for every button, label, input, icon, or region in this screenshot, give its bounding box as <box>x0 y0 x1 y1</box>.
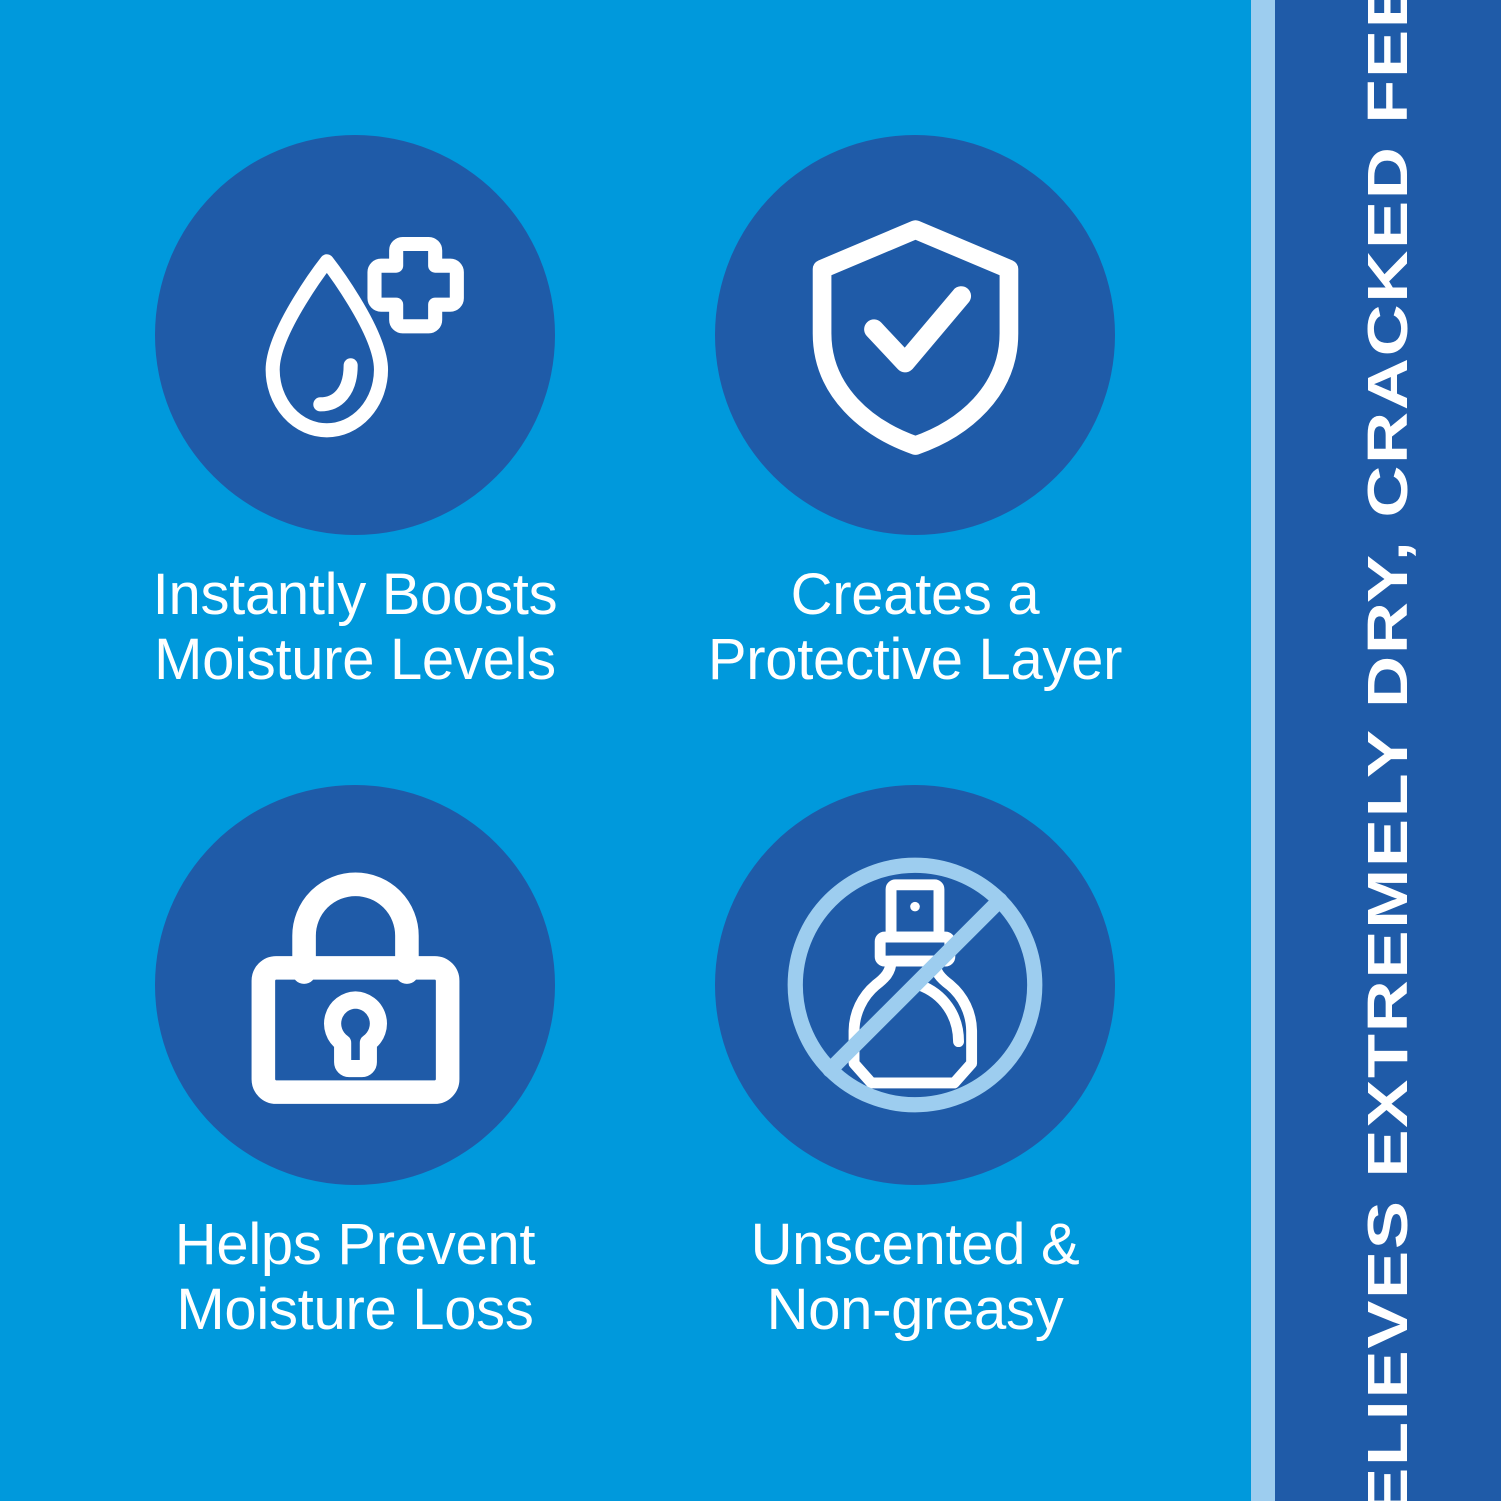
feature-item-unscented-non-greasy: Unscented & Non-greasy <box>635 785 1195 1343</box>
shield-check-icon <box>798 213 1033 458</box>
feature-item-instantly-boosts-moisture-levels: Instantly Boosts Moisture Levels <box>75 135 635 693</box>
side-panel-headline-text: RELIEVES EXTREMELY DRY, CRACKED FEET <box>1356 0 1420 1501</box>
feature-grid: Instantly Boosts Moisture Levels Creates… <box>0 0 1251 1501</box>
feature-icon-circle <box>715 785 1115 1185</box>
water-droplet-plus-icon <box>225 205 485 465</box>
feature-label: Instantly Boosts Moisture Levels <box>75 563 635 693</box>
feature-icon-circle <box>155 785 555 1185</box>
no-fragrance-bottle-icon <box>780 850 1050 1120</box>
product-benefits-infographic: RELIEVES EXTREMELY DRY, CRACKED FEET Ins… <box>0 0 1501 1501</box>
background-accent-stripe <box>1251 0 1275 1501</box>
feature-item-helps-prevent-moisture-loss: Helps Prevent Moisture Loss <box>75 785 635 1343</box>
padlock-icon <box>243 865 468 1105</box>
prohibition-sign-icon <box>795 865 1035 1105</box>
feature-label: Unscented & Non-greasy <box>635 1213 1195 1343</box>
feature-icon-circle <box>715 135 1115 535</box>
side-panel-headline: RELIEVES EXTREMELY DRY, CRACKED FEET <box>1275 0 1501 1501</box>
feature-label: Helps Prevent Moisture Loss <box>75 1213 635 1343</box>
feature-icon-circle <box>155 135 555 535</box>
feature-label: Creates a Protective Layer <box>635 563 1195 693</box>
feature-item-creates-a-protective-layer: Creates a Protective Layer <box>635 135 1195 693</box>
